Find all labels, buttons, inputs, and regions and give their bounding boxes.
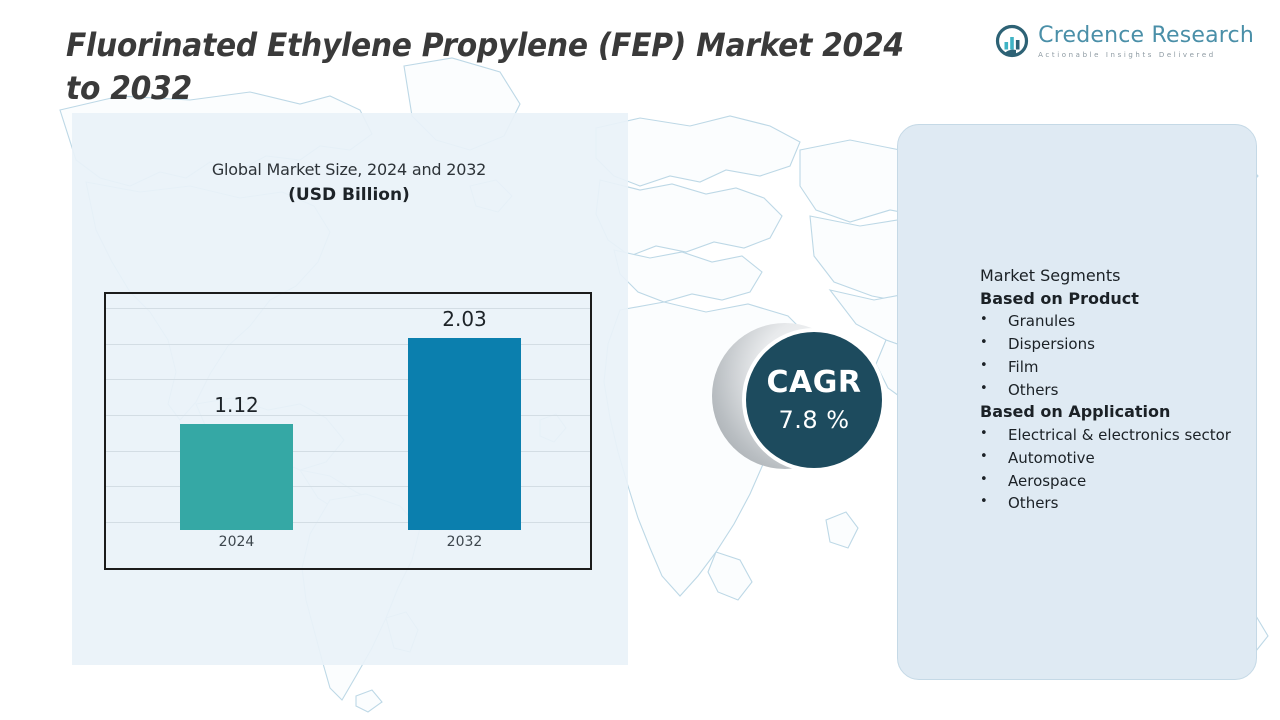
segment-item-label: Aerospace: [1008, 471, 1246, 493]
segment-item-label: Others: [1008, 493, 1246, 515]
segment-list-item: •Others: [980, 493, 1246, 515]
segment-item-label: Dispersions: [1008, 334, 1246, 356]
bar-2024: [180, 424, 293, 530]
bar-value-2024: 1.12: [157, 393, 317, 417]
chart-plot-area: 1.1220242.032032: [106, 294, 590, 530]
segment-list-item: •Others: [980, 380, 1246, 402]
bullet-icon: •: [980, 334, 1008, 356]
x-axis-label-2032: 2032: [385, 534, 545, 550]
market-segments-title: Market Segments: [980, 265, 1246, 288]
cagr-circle: CAGR 7.8 %: [746, 332, 882, 468]
segment-list-item: •Film: [980, 357, 1246, 379]
segment-list-item: •Granules: [980, 311, 1246, 333]
logo-tagline: Actionable Insights Delivered: [1038, 52, 1254, 59]
segment-list-item: •Dispersions: [980, 334, 1246, 356]
bullet-icon: •: [980, 311, 1008, 333]
market-segments-groups: Based on Product•Granules•Dispersions•Fi…: [980, 288, 1246, 515]
segment-item-label: Electrical & electronics sector: [1008, 425, 1246, 447]
segment-list-item: •Aerospace: [980, 471, 1246, 493]
x-axis-label-2024: 2024: [157, 534, 317, 550]
segment-group-title: Based on Application: [980, 401, 1246, 424]
segment-list-item: •Automotive: [980, 448, 1246, 470]
bar-2032: [408, 338, 521, 530]
chart-heading-line2: (USD Billion): [104, 185, 594, 205]
segment-item-label: Film: [1008, 357, 1246, 379]
segment-item-label: Granules: [1008, 311, 1246, 333]
bullet-icon: •: [980, 448, 1008, 470]
segment-item-label: Automotive: [1008, 448, 1246, 470]
bullet-icon: •: [980, 357, 1008, 379]
chart-heading: Global Market Size, 2024 and 2032 (USD B…: [104, 160, 594, 205]
bar-chart-circle-icon: [994, 24, 1030, 60]
segment-item-label: Others: [1008, 380, 1246, 402]
bullet-icon: •: [980, 471, 1008, 493]
bullet-icon: •: [980, 425, 1008, 447]
page-title: Fluorinated Ethylene Propylene (FEP) Mar…: [66, 24, 931, 110]
segment-list-item: •Electrical & electronics sector: [980, 425, 1246, 447]
cagr-value: 7.8 %: [778, 408, 849, 432]
market-segments: Market Segments Based on Product•Granule…: [980, 265, 1246, 515]
cagr-badge: CAGR 7.8 %: [712, 323, 902, 473]
chart-heading-line1: Global Market Size, 2024 and 2032: [104, 160, 594, 179]
cagr-label: CAGR: [767, 368, 862, 398]
brand-logo: Credence Research Actionable Insights De…: [994, 24, 1254, 60]
bullet-icon: •: [980, 380, 1008, 402]
bullet-icon: •: [980, 493, 1008, 515]
logo-name: Credence Research: [1038, 25, 1254, 47]
bar-value-2032: 2.03: [385, 307, 545, 331]
segment-group-title: Based on Product: [980, 288, 1246, 311]
bar-chart: 1.1220242.032032: [104, 292, 592, 570]
